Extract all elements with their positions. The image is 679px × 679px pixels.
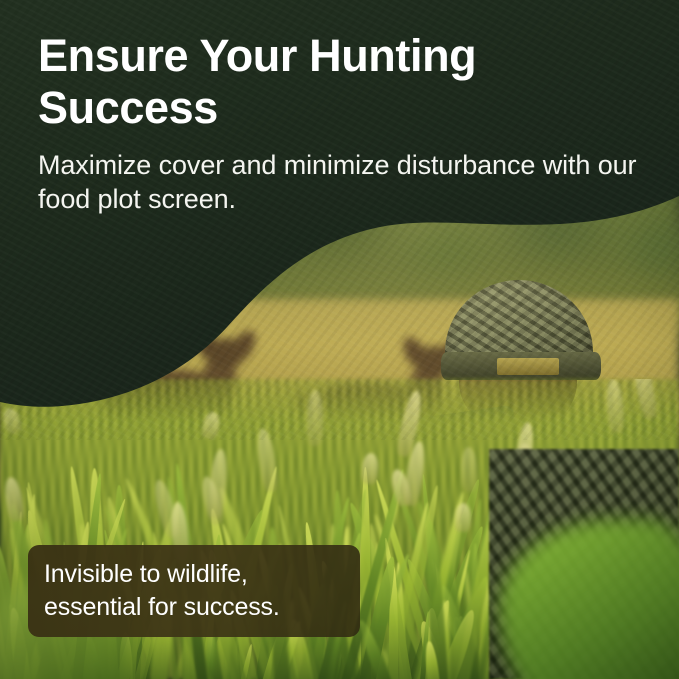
grass-seedhead <box>254 428 279 494</box>
hunter-cap-patch <box>497 358 559 375</box>
page-subtitle: Maximize cover and minimize disturbance … <box>38 148 638 216</box>
caption-badge: Invisible to wildlife, essential for suc… <box>28 545 360 637</box>
grass-seedhead <box>361 453 380 485</box>
page-title: Ensure Your Hunting Success <box>38 30 638 134</box>
grass-seedhead <box>307 390 323 447</box>
grass-seedhead <box>455 503 471 532</box>
header-text-block: Ensure Your Hunting Success Maximize cov… <box>38 30 638 216</box>
grass-seedhead <box>460 447 477 493</box>
grass-seedhead <box>629 379 659 421</box>
grass-seedhead <box>201 411 223 441</box>
grass-seedhead <box>1 407 23 436</box>
caption-line-2: essential for success. <box>44 591 344 624</box>
grass-seedhead <box>605 379 625 433</box>
marketing-poster: Ensure Your Hunting Success Maximize cov… <box>0 0 679 679</box>
deer-head <box>208 338 244 368</box>
grass-seedhead <box>2 476 25 522</box>
caption-line-1: Invisible to wildlife, <box>44 558 344 591</box>
